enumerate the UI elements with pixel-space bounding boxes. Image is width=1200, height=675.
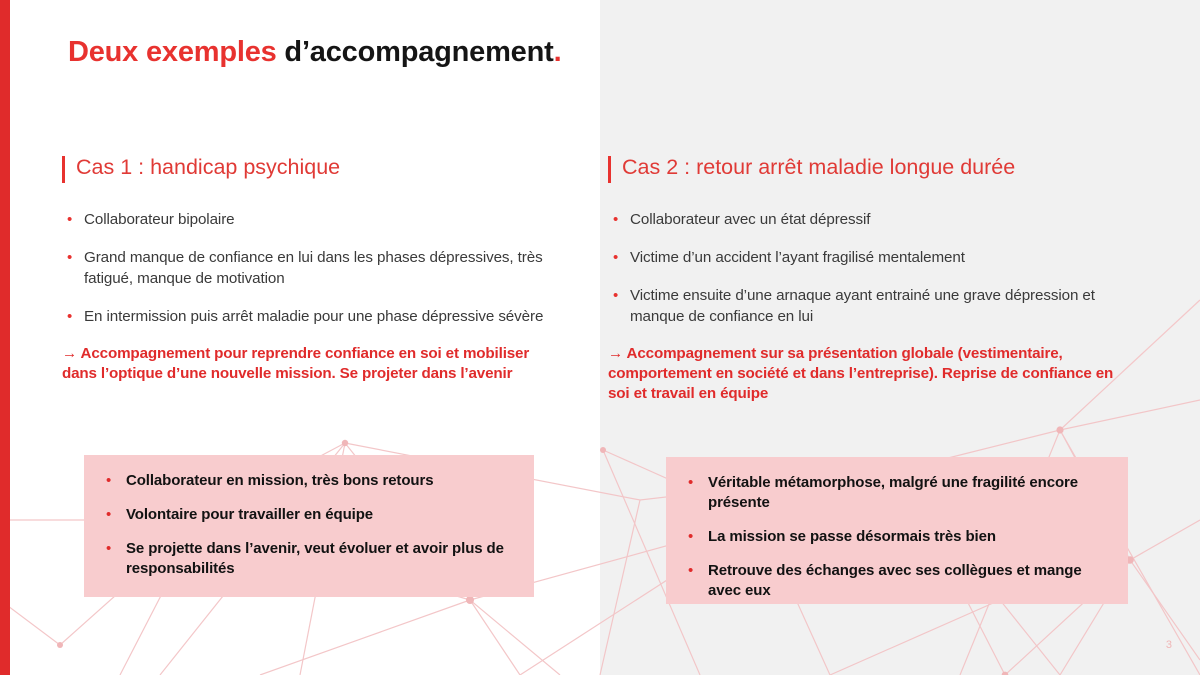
list-item: • Collaborateur avec un état dépressif: [608, 209, 1148, 230]
outcome-text: Se projette dans l’avenir, veut évoluer …: [126, 539, 512, 579]
case-1-heading: Cas 1 : handicap psychique: [62, 155, 592, 183]
case-column-left: Cas 1 : handicap psychique • Collaborate…: [62, 155, 592, 384]
page-title-highlight: Deux exemples: [68, 36, 277, 68]
page-title-rest: d’accompagnement: [277, 36, 554, 68]
page-title: Deux exemples d’accompagnement.: [68, 36, 561, 69]
list-item: • Volontaire pour travailler en équipe: [102, 505, 512, 525]
bullet-text: Grand manque de confiance en lui dans le…: [84, 247, 570, 289]
bullet-dot-icon: •: [62, 209, 84, 230]
bullet-dot-icon: •: [102, 539, 126, 559]
bullet-dot-icon: •: [62, 247, 84, 268]
list-item: • Grand manque de confiance en lui dans …: [62, 247, 592, 289]
bullet-dot-icon: •: [684, 527, 708, 547]
case-2-heading: Cas 2 : retour arrêt maladie longue duré…: [608, 155, 1148, 183]
bullet-text: Collaborateur avec un état dépressif: [630, 209, 870, 230]
outcome-text: Volontaire pour travailler en équipe: [126, 505, 373, 525]
bullet-text: Collaborateur bipolaire: [84, 209, 235, 230]
list-item: • En intermission puis arrêt maladie pou…: [62, 306, 592, 327]
list-item: • Se projette dans l’avenir, veut évolue…: [102, 539, 512, 579]
bullet-dot-icon: •: [684, 561, 708, 581]
list-item: • La mission se passe désormais très bie…: [684, 527, 1106, 547]
bullet-text: En intermission puis arrêt maladie pour …: [84, 306, 543, 327]
bullet-dot-icon: •: [608, 209, 630, 230]
case-1-conclusion: → Accompagnement pour reprendre confianc…: [62, 344, 567, 384]
bullet-dot-icon: •: [102, 505, 126, 525]
case-2-title: Cas 2 : retour arrêt maladie longue duré…: [622, 155, 1015, 180]
outcome-text: Collaborateur en mission, très bons reto…: [126, 471, 433, 491]
bullet-dot-icon: •: [62, 306, 84, 327]
case-1-accent-bar: [62, 156, 65, 183]
list-item: • Véritable métamorphose, malgré une fra…: [684, 473, 1106, 513]
page-number: 3: [1166, 639, 1172, 651]
case-2-accent-bar: [608, 156, 611, 183]
case-column-right: Cas 2 : retour arrêt maladie longue duré…: [608, 155, 1148, 404]
case-1-outcome-box: • Collaborateur en mission, très bons re…: [84, 455, 534, 597]
slide-canvas: Deux exemples d’accompagnement. Cas 1 : …: [0, 0, 1200, 675]
left-accent-stripe: [0, 0, 10, 675]
bullet-dot-icon: •: [102, 471, 126, 491]
list-item: • Victime ensuite d’une arnaque ayant en…: [608, 285, 1148, 327]
outcome-text: Véritable métamorphose, malgré une fragi…: [708, 473, 1100, 513]
bullet-dot-icon: •: [608, 247, 630, 268]
case-1-bullet-list: • Collaborateur bipolaire • Grand manque…: [62, 209, 592, 327]
bullet-dot-icon: •: [608, 285, 630, 306]
page-title-period: .: [554, 36, 562, 68]
list-item: • Collaborateur en mission, très bons re…: [102, 471, 512, 491]
list-item: • Victime d’un accident l’ayant fragilis…: [608, 247, 1148, 268]
case-2-bullet-list: • Collaborateur avec un état dépressif •…: [608, 209, 1148, 327]
bullet-text: Victime ensuite d’une arnaque ayant entr…: [630, 285, 1100, 327]
list-item: • Retrouve des échanges avec ses collègu…: [684, 561, 1106, 601]
outcome-text: La mission se passe désormais très bien: [708, 527, 996, 547]
case-2-conclusion: → Accompagnement sur sa présentation glo…: [608, 344, 1138, 404]
outcome-text: Retrouve des échanges avec ses collègues…: [708, 561, 1100, 601]
case-2-outcome-box: • Véritable métamorphose, malgré une fra…: [666, 457, 1128, 604]
list-item: • Collaborateur bipolaire: [62, 209, 592, 230]
bullet-text: Victime d’un accident l’ayant fragilisé …: [630, 247, 965, 268]
case-1-title: Cas 1 : handicap psychique: [76, 155, 340, 180]
bullet-dot-icon: •: [684, 473, 708, 493]
